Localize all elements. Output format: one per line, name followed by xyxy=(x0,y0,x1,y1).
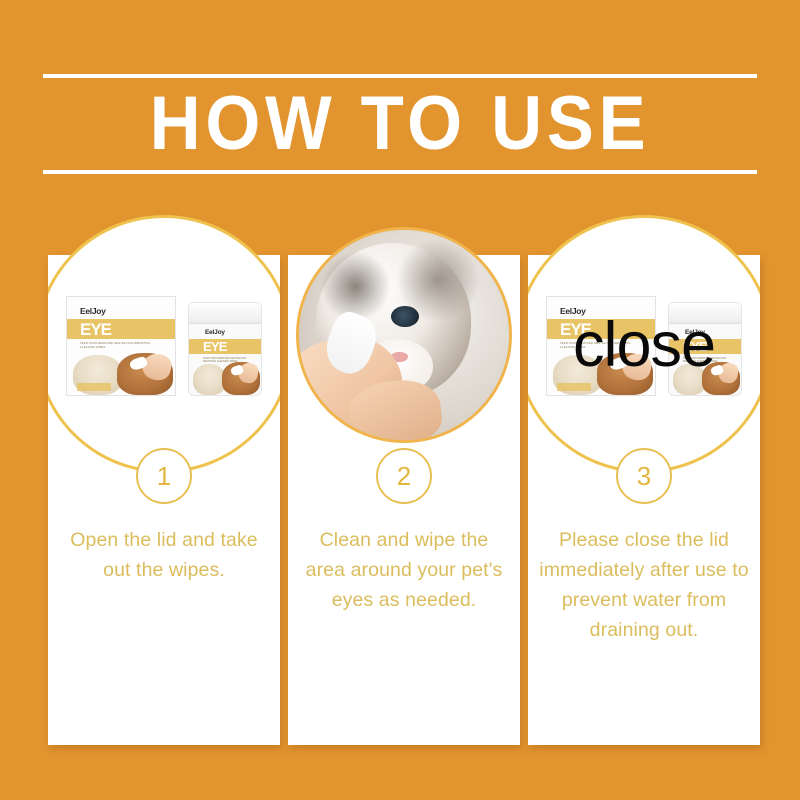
step-card-3: EelJoy EYE TEAR STAIN REMOVER GENTLE NON… xyxy=(528,255,760,745)
step-caption-1: Open the lid and take out the wipes. xyxy=(58,525,270,585)
product-jar-pet-image xyxy=(189,361,261,395)
step-2-photo-circle xyxy=(296,227,512,443)
product-jar-name: EYE xyxy=(203,339,227,354)
step-caption-2: Clean and wipe the area around your pet'… xyxy=(298,525,510,615)
step-1-circle-frame: EelJoy EYE TEAR STAIN REMOVER GENTLE NON… xyxy=(48,215,280,473)
how-to-use-infographic: { "header": { "title": "HOW TO USE" }, "… xyxy=(0,0,800,800)
product-box: EelJoy EYE TEAR STAIN REMOVER GENTLE NON… xyxy=(66,296,176,396)
cat-eye xyxy=(391,306,418,327)
product-jar: EelJoy EYE TEAR STAIN REMOVER GENTLE NON… xyxy=(188,302,262,396)
product-box-name: EYE xyxy=(80,320,111,339)
step-card-1: EelJoy EYE TEAR STAIN REMOVER GENTLE NON… xyxy=(48,255,280,745)
jar-lid xyxy=(188,302,262,324)
title-rule-bottom xyxy=(43,170,757,174)
step-3-circle-frame: EelJoy EYE TEAR STAIN REMOVER GENTLE NON… xyxy=(528,215,760,473)
product-shot: EelJoy EYE TEAR STAIN REMOVER GENTLE NON… xyxy=(66,296,262,398)
header: HOW TO USE xyxy=(43,74,757,174)
step-number-badge-3: 3 xyxy=(616,448,672,504)
step-number-badge-1: 1 xyxy=(136,448,192,504)
step-caption-3: Please close the lid immediately after u… xyxy=(538,525,750,645)
product-box-subtitle: TEAR STAIN REMOVER GENTLE NON-IRRITATING… xyxy=(80,342,160,349)
product-box-seal xyxy=(557,383,591,391)
close-overlay-text: close xyxy=(528,314,760,377)
product-jar-band: EYE xyxy=(189,339,261,354)
product-box-seal xyxy=(77,383,111,391)
step-number-badge-2: 2 xyxy=(376,448,432,504)
step-card-2: 2 Clean and wipe the area around your pe… xyxy=(288,255,520,745)
product-box-brand: EelJoy xyxy=(80,306,106,316)
product-box-band: EYE xyxy=(67,319,175,339)
cat-eye-wiping-photo xyxy=(299,230,509,440)
product-jar-brand: EelJoy xyxy=(205,329,225,336)
page-title: HOW TO USE xyxy=(68,74,732,174)
